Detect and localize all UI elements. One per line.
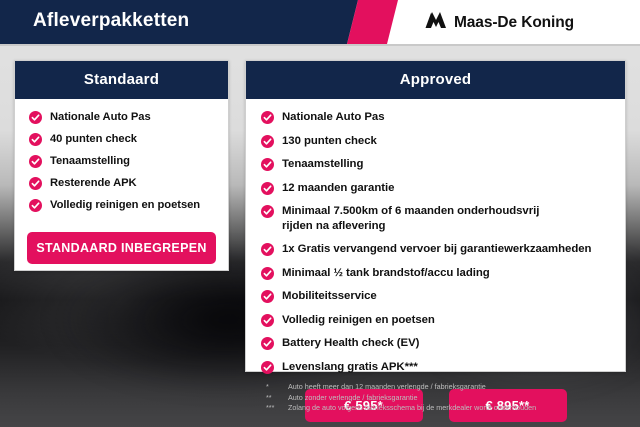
maas-de-koning-logo-icon (425, 11, 447, 34)
list-item-label: Nationale Auto Pas (50, 110, 151, 124)
list-item-label: Volledig reinigen en poetsen (50, 198, 200, 212)
list-item-label: Volledig reinigen en poetsen (282, 313, 435, 328)
list-item: Mobiliteitsservice (246, 289, 625, 304)
list-item-label: Mobiliteitsservice (282, 289, 377, 304)
check-circle-icon (261, 243, 274, 256)
list-item: 12 maanden garantie (246, 181, 625, 196)
check-circle-icon (261, 267, 274, 280)
check-circle-icon (29, 133, 42, 146)
list-item: Nationale Auto Pas (246, 110, 625, 125)
list-item-label: Levenslang gratis APK*** (282, 360, 418, 375)
check-circle-icon (261, 135, 274, 148)
list-item-label: 40 punten check (50, 132, 137, 146)
check-circle-icon (261, 205, 274, 218)
list-item-label: 12 maanden garantie (282, 181, 394, 196)
list-item-label: Minimaal ½ tank brandstof/accu lading (282, 266, 490, 281)
page-header: Afleverpakketten Maas-De Koning (0, 0, 640, 44)
list-item: Resterende APK (15, 176, 228, 190)
list-item-label: 1x Gratis vervangend vervoer bij garanti… (282, 242, 591, 257)
header-divider (0, 44, 640, 46)
standaard-card: Standaard Nationale Auto Pas 40 punten c… (14, 60, 229, 271)
footnote-marker: * (266, 382, 282, 393)
footnote-text: Zolang de auto volgens fabrieksschema bi… (288, 403, 536, 414)
check-circle-icon (261, 290, 274, 303)
footnote-marker: ** (266, 393, 282, 404)
standaard-inbegrepen-button[interactable]: STANDAARD INBEGREPEN (27, 232, 216, 264)
list-item: Volledig reinigen en poetsen (246, 313, 625, 328)
list-item-label: 130 punten check (282, 134, 377, 149)
list-item-label: Tenaamstelling (50, 154, 130, 168)
footnote-marker: *** (266, 403, 282, 414)
standaard-card-heading: Standaard (15, 61, 228, 99)
footnotes: * Auto heeft meer dan 12 maanden verleng… (266, 382, 626, 414)
list-item-label: Resterende APK (50, 176, 137, 190)
list-item: Nationale Auto Pas (15, 110, 228, 124)
list-item-label: Nationale Auto Pas (282, 110, 384, 125)
list-item-label-line1: Minimaal 7.500km of 6 maanden onderhouds… (282, 205, 539, 217)
approved-card-heading: Approved (246, 61, 625, 99)
brand-name: Maas-De Koning (454, 14, 574, 32)
check-circle-icon (29, 155, 42, 168)
list-item-label: Minimaal 7.500km of 6 maanden onderhouds… (282, 204, 539, 233)
approved-card: Approved Nationale Auto Pas 130 punten c… (245, 60, 626, 372)
check-circle-icon (29, 177, 42, 190)
list-item: 130 punten check (246, 134, 625, 149)
standaard-feature-list: Nationale Auto Pas 40 punten check Tenaa… (15, 99, 228, 212)
list-item-label: Tenaamstelling (282, 157, 363, 172)
list-item: Minimaal ½ tank brandstof/accu lading (246, 266, 625, 281)
check-circle-icon (261, 182, 274, 195)
footnote-triple-asterisk: *** Zolang de auto volgens fabrieksschem… (266, 403, 626, 414)
brand-lockup: Maas-De Koning (425, 11, 574, 34)
check-circle-icon (261, 314, 274, 327)
page-title: Afleverpakketten (33, 10, 189, 32)
list-item: Tenaamstelling (15, 154, 228, 168)
check-circle-icon (261, 158, 274, 171)
approved-feature-list: Nationale Auto Pas 130 punten check Tena… (246, 99, 625, 374)
check-circle-icon (261, 337, 274, 350)
list-item: Levenslang gratis APK*** (246, 360, 625, 375)
check-circle-icon (29, 111, 42, 124)
check-circle-icon (261, 111, 274, 124)
footnote-double-asterisk: ** Auto zonder verlengde / fabrieksgaran… (266, 393, 626, 404)
footnote-text: Auto heeft meer dan 12 maanden verlengde… (288, 382, 486, 393)
list-item: Volledig reinigen en poetsen (15, 198, 228, 212)
check-circle-icon (261, 361, 274, 374)
list-item: 40 punten check (15, 132, 228, 146)
list-item: Battery Health check (EV) (246, 336, 625, 351)
standaard-button-area: STANDAARD INBEGREPEN (15, 220, 228, 278)
afleverpakketten-page: Afleverpakketten Maas-De Koning Standaar… (0, 0, 640, 427)
list-item: Tenaamstelling (246, 157, 625, 172)
list-item: Minimaal 7.500km of 6 maanden onderhouds… (246, 204, 625, 233)
check-circle-icon (29, 199, 42, 212)
footnote-single-asterisk: * Auto heeft meer dan 12 maanden verleng… (266, 382, 626, 393)
list-item-label-line2: rijden na aflevering (282, 219, 539, 234)
list-item: 1x Gratis vervangend vervoer bij garanti… (246, 242, 625, 257)
list-item-label: Battery Health check (EV) (282, 336, 419, 351)
footnote-text: Auto zonder verlengde / fabrieksgarantie (288, 393, 417, 404)
